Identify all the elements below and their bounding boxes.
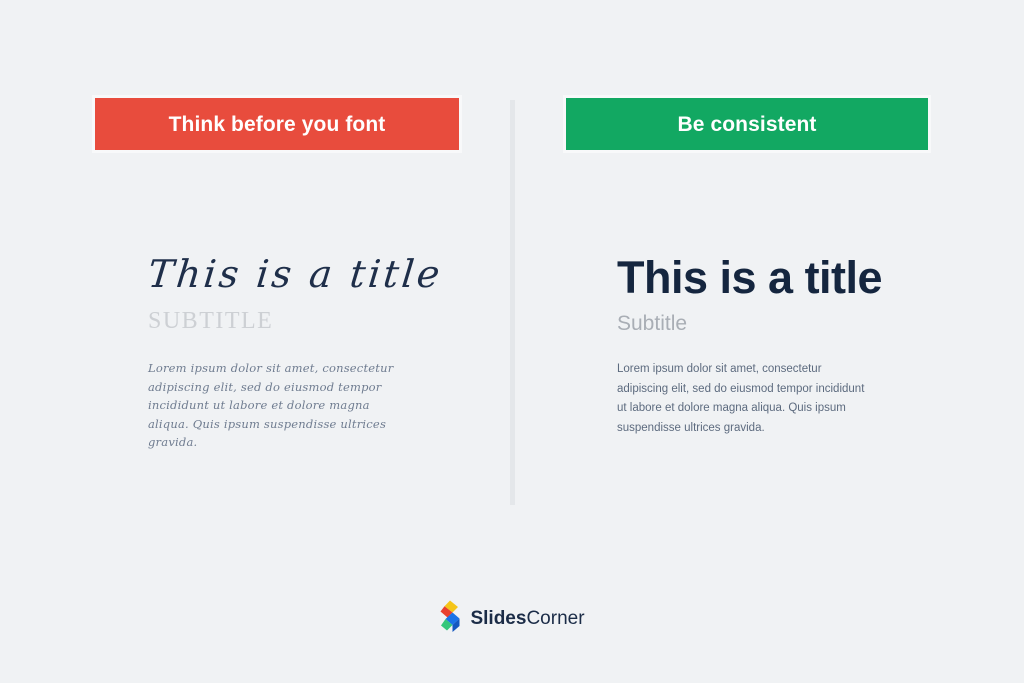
banner-think-before-you-font: Think before you font: [95, 98, 459, 150]
slide-canvas: Think before you font Be consistent This…: [0, 0, 1024, 683]
panel-inconsistent-fonts: This is a title SUBTITLE Lorem ipsum dol…: [148, 255, 448, 452]
brand-wordmark: SlidesCorner: [470, 609, 584, 628]
slidescorner-logo-icon: [439, 600, 461, 636]
right-panel-body-text: Lorem ipsum dolor sit amet, consectetur …: [617, 360, 865, 439]
right-panel-subtitle: Subtitle: [617, 313, 907, 334]
left-panel-body-text: Lorem ipsum dolor sit amet, consectetur …: [148, 359, 400, 452]
left-panel-subtitle: SUBTITLE: [148, 309, 448, 333]
banner-right-label: Be consistent: [678, 114, 817, 135]
right-panel-title: This is a title: [617, 255, 907, 301]
panel-divider: [510, 100, 515, 505]
panel-consistent-fonts: This is a title Subtitle Lorem ipsum dol…: [617, 255, 907, 439]
banner-left-label: Think before you font: [169, 114, 386, 135]
brand-wordmark-bold: Slides: [470, 608, 526, 629]
footer-brand: SlidesCorner: [0, 600, 1024, 636]
brand-wordmark-regular: Corner: [526, 608, 584, 629]
banner-be-consistent: Be consistent: [566, 98, 928, 150]
left-panel-title: This is a title: [146, 255, 450, 295]
